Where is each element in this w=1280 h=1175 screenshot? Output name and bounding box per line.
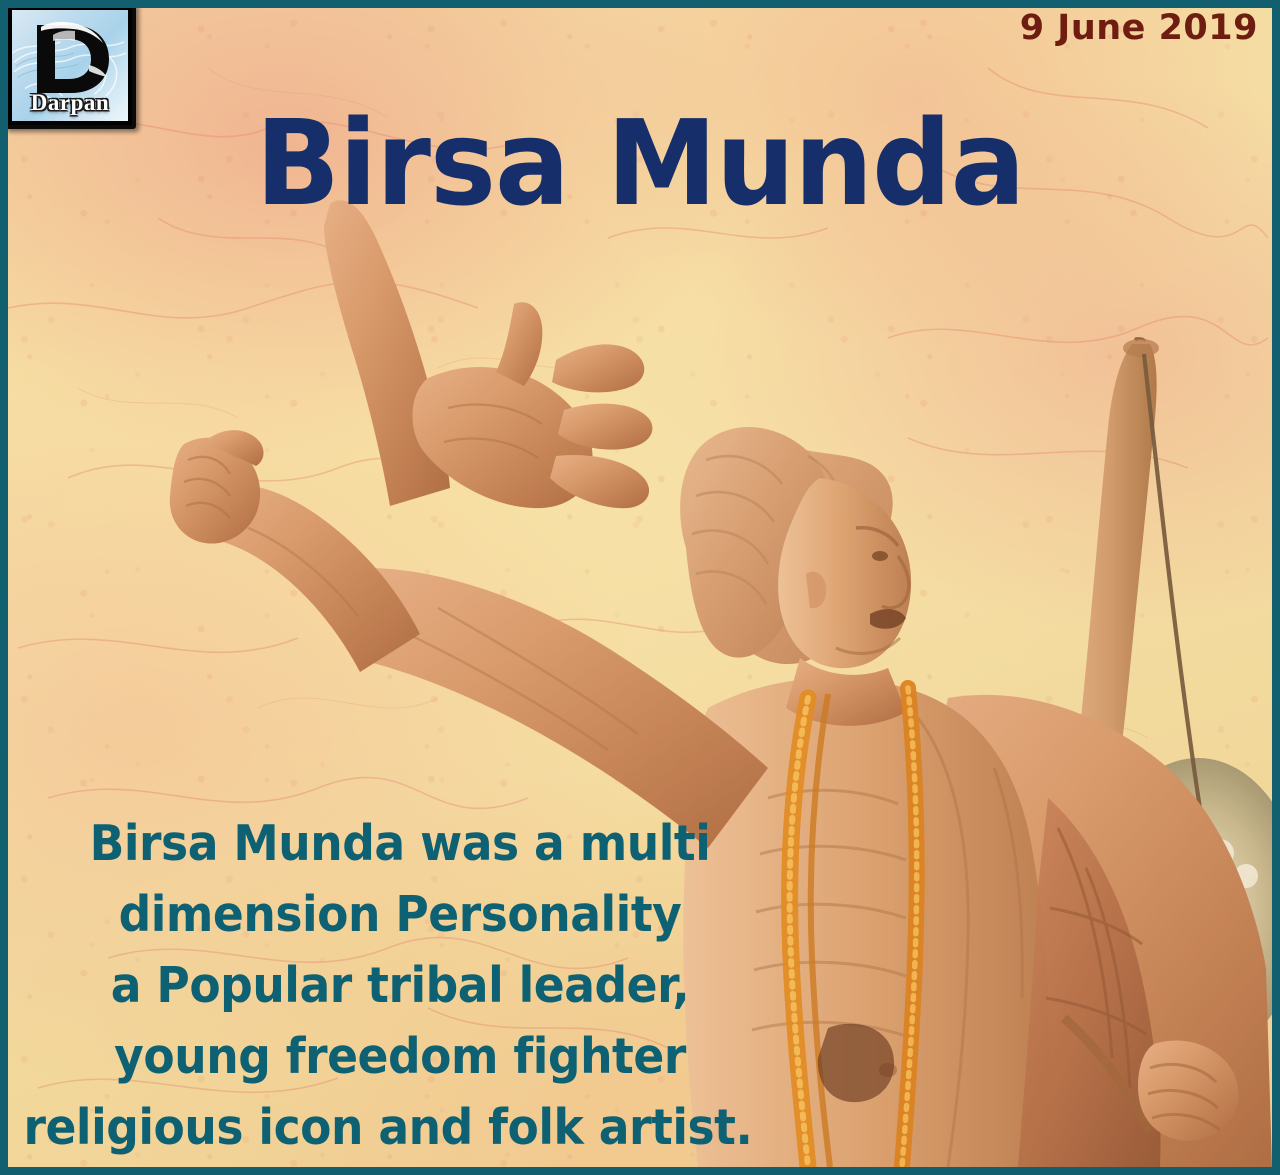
date-label: 9 June 2019 [1020,8,1258,48]
foliage-background [1093,758,1272,1058]
right-arm [888,695,1272,1167]
caption-line: Birsa Munda was a multi [28,808,772,879]
caption-line: dimension Personality [28,879,772,950]
neck [786,658,906,726]
raised-arm-forearm [206,484,420,672]
raised-arm-upper [352,568,768,848]
bead-garlands [790,688,917,1167]
caption-line: religious icon and folk artist. [4,1092,772,1163]
poster-image: Darpan 9 June 2019 Birsa Munda Birsa Mun… [0,0,1280,1175]
caption-text: Birsa Munda was a multi dimension Person… [28,808,772,1163]
page-title: Birsa Munda [38,104,1241,222]
clothing [1018,798,1160,1167]
left-hand-fist [170,430,264,543]
head-with-turban [680,427,911,668]
turban-folds [692,456,846,604]
bow [1052,339,1224,976]
caption-line: a Popular tribal leader, [28,950,772,1021]
broken-limb-spur [324,200,450,506]
shadowed-object [818,1024,894,1102]
logo-letter-d-icon [27,19,113,99]
open-hand-fingers [412,302,652,508]
caption-line: young freedom fighter [28,1021,772,1092]
gripping-hand [1138,1040,1238,1140]
torso-shading [752,718,1022,1167]
